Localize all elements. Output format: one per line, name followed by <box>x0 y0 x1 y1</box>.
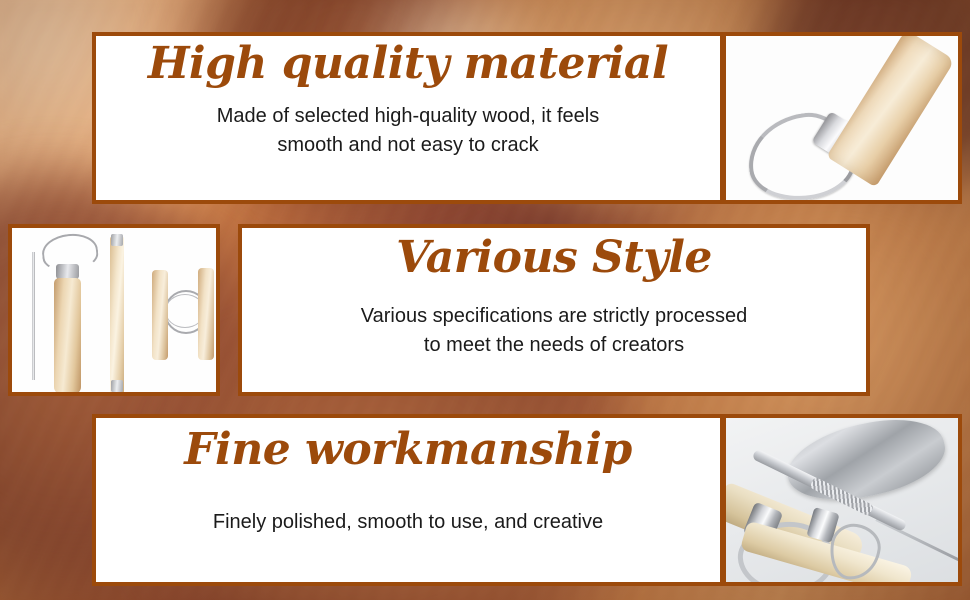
pottery-tools-closeup-photo <box>726 418 958 582</box>
pottery-loop-tool-photo <box>726 36 958 200</box>
long-wooden-rod-shape <box>110 236 124 394</box>
feature-image-fine-workmanship <box>722 414 962 586</box>
feature-panel-high-quality-material: High quality material Made of selected h… <box>92 32 724 204</box>
feature-description: Made of selected high-quality wood, it f… <box>217 102 599 160</box>
feature-description: Finely polished, smooth to use, and crea… <box>213 508 603 537</box>
feature-description-line-1: Made of selected high-quality wood, it f… <box>217 102 599 131</box>
feature-panel-fine-workmanship: Fine workmanship Finely polished, smooth… <box>92 414 724 586</box>
feature-heading: High quality material <box>148 42 668 86</box>
feature-panel-various-style: Various Style Various specifications are… <box>238 224 870 396</box>
feature-heading: Various Style <box>396 236 712 280</box>
loop-tool-handle-shape <box>54 278 81 394</box>
handle-right-shape <box>198 268 214 360</box>
feature-description-line-1: Finely polished, smooth to use, and crea… <box>213 508 603 537</box>
needle-tool-shape <box>32 252 35 380</box>
feature-description-line-2: smooth and not easy to crack <box>217 131 599 160</box>
feature-image-high-quality-material <box>722 32 962 204</box>
feature-description: Various specifications are strictly proc… <box>361 302 747 360</box>
infographic-stage: High quality material Made of selected h… <box>0 0 970 600</box>
handle-left-shape <box>152 270 168 360</box>
pottery-tool-set-photo <box>12 228 216 392</box>
feature-description-line-1: Various specifications are strictly proc… <box>361 302 747 331</box>
feature-image-various-style <box>8 224 220 396</box>
feature-description-line-2: to meet the needs of creators <box>361 331 747 360</box>
loop-tool-ferrule-shape <box>56 264 79 279</box>
rod-tip-bottom-shape <box>111 380 123 392</box>
feature-heading: Fine workmanship <box>184 428 631 472</box>
rod-tip-top-shape <box>111 234 123 246</box>
